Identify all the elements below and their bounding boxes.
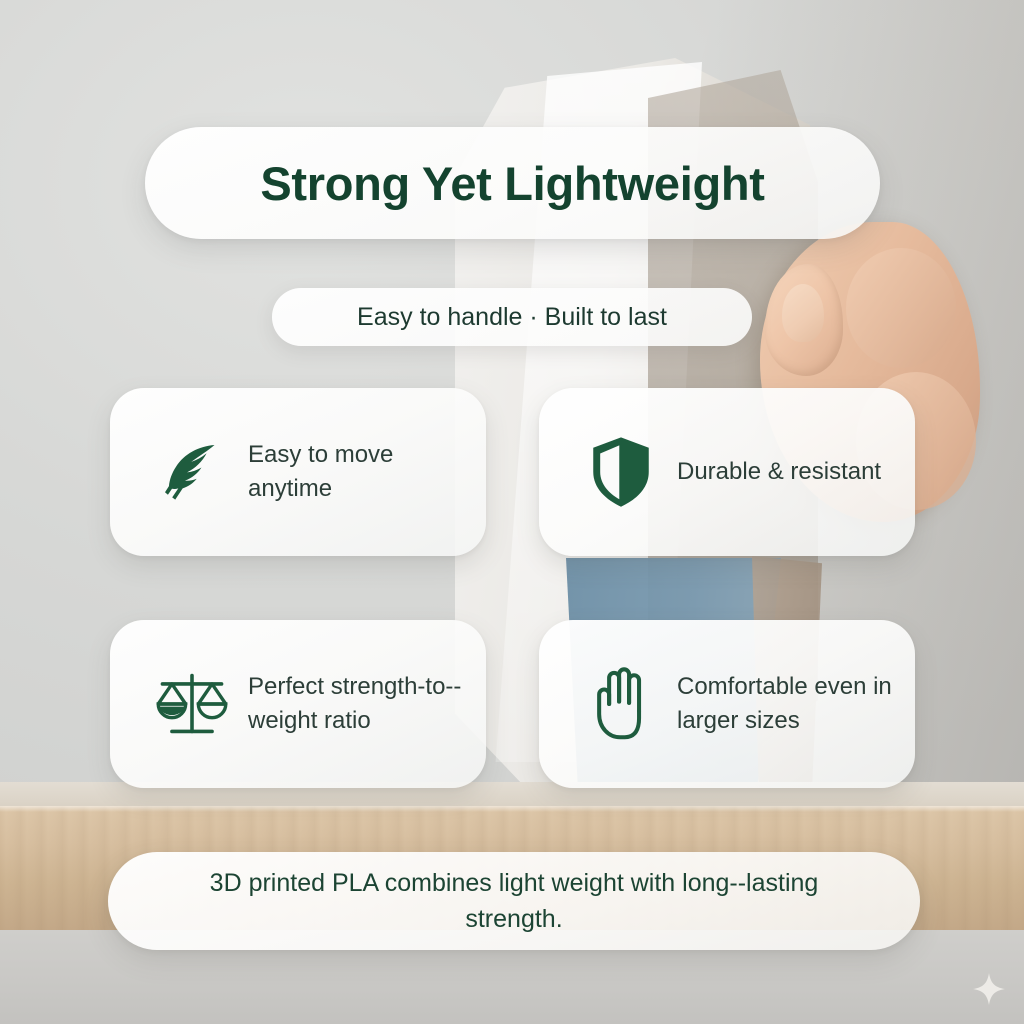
feature-card-strength-weight[interactable]: Perfect strength-to--weight ratio bbox=[110, 620, 486, 788]
feature-card-grid: Easy to move anytime Durable & resistant bbox=[110, 388, 915, 788]
open-hand-icon bbox=[583, 666, 659, 742]
feature-card-label: Easy to move anytime bbox=[248, 438, 463, 506]
footer-description: 3D printed PLA combines light weight wit… bbox=[189, 865, 839, 938]
thumbnail-icon bbox=[782, 284, 824, 342]
subtitle-pill: Easy to handle · Built to last bbox=[272, 288, 752, 346]
hand-knuckle-upper bbox=[846, 248, 956, 368]
shelf-edge-highlight bbox=[0, 806, 1024, 812]
feature-card-durable[interactable]: Durable & resistant bbox=[539, 388, 915, 556]
promo-graphic: Strong Yet Lightweight Easy to handle · … bbox=[0, 0, 1024, 1024]
shield-icon bbox=[583, 434, 659, 510]
feature-card-easy-to-move[interactable]: Easy to move anytime bbox=[110, 388, 486, 556]
feature-card-label: Perfect strength-to--weight ratio bbox=[248, 670, 463, 738]
page-title: Strong Yet Lightweight bbox=[260, 156, 764, 211]
feature-card-label: Durable & resistant bbox=[677, 455, 881, 489]
footer-pill: 3D printed PLA combines light weight wit… bbox=[108, 852, 920, 950]
page-subtitle: Easy to handle · Built to last bbox=[357, 303, 667, 332]
feature-card-comfortable[interactable]: Comfortable even in larger sizes bbox=[539, 620, 915, 788]
feature-card-label: Comfortable even in larger sizes bbox=[677, 670, 892, 738]
feather-icon bbox=[154, 434, 230, 510]
title-pill: Strong Yet Lightweight bbox=[145, 127, 880, 239]
balance-scale-icon bbox=[154, 666, 230, 742]
sparkle-icon bbox=[972, 972, 1006, 1006]
